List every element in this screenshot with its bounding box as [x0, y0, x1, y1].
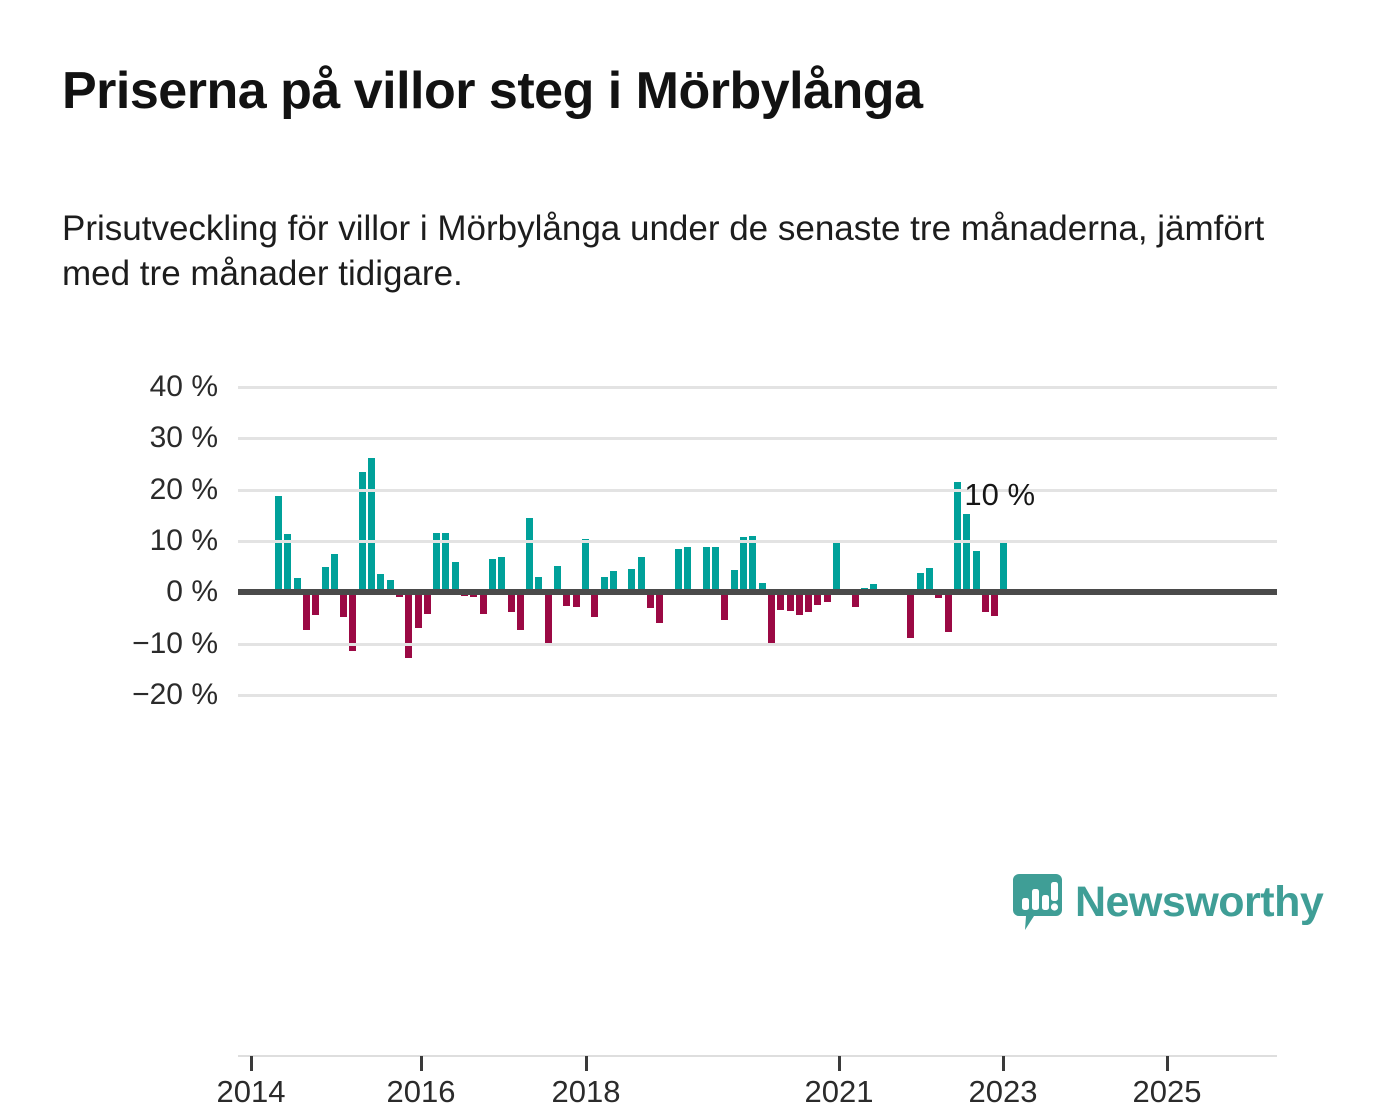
- infographic-page: Priserna på villor steg i Mörbylånga Pri…: [0, 0, 1382, 999]
- x-tick-label: 2023: [969, 1074, 1038, 1110]
- x-tick: [1002, 1056, 1005, 1071]
- x-tick-label: 2016: [387, 1074, 456, 1110]
- x-tick-label: 2018: [552, 1074, 621, 1110]
- x-tick: [838, 1056, 841, 1071]
- y-tick-label: −10 %: [100, 627, 218, 661]
- y-tick-label: 30 %: [100, 421, 218, 455]
- logo-wordmark: Newsworthy: [1075, 881, 1323, 924]
- page-title: Priserna på villor steg i Mörbylånga: [62, 62, 1322, 120]
- x-tick-label: 2021: [805, 1074, 874, 1110]
- x-axis-line: [238, 1055, 1277, 1057]
- y-tick-label: 20 %: [100, 473, 218, 507]
- y-axis-labels: −20 %−10 %0 %10 %20 %30 %40 %: [0, 360, 1382, 760]
- y-tick-label: 40 %: [100, 370, 218, 404]
- x-tick: [1166, 1056, 1169, 1071]
- x-tick: [420, 1056, 423, 1071]
- x-tick-label: 2025: [1133, 1074, 1202, 1110]
- y-tick-label: 0 %: [100, 575, 218, 609]
- x-tick-label: 2014: [217, 1074, 286, 1110]
- bar-chart: −20 %−10 %0 %10 %20 %30 %40 % 2014201620…: [0, 360, 1382, 760]
- newsworthy-logo: Newsworthy: [1013, 874, 1323, 930]
- y-tick-label: 10 %: [100, 524, 218, 558]
- newsworthy-bar-chart-bubble-icon: [1013, 874, 1062, 930]
- x-tick: [250, 1056, 253, 1071]
- page-subtitle: Prisutveckling för villor i Mörbylånga u…: [62, 207, 1332, 297]
- y-tick-label: −20 %: [100, 678, 218, 712]
- x-tick: [585, 1056, 588, 1071]
- value-annotation: 10 %: [964, 477, 1035, 513]
